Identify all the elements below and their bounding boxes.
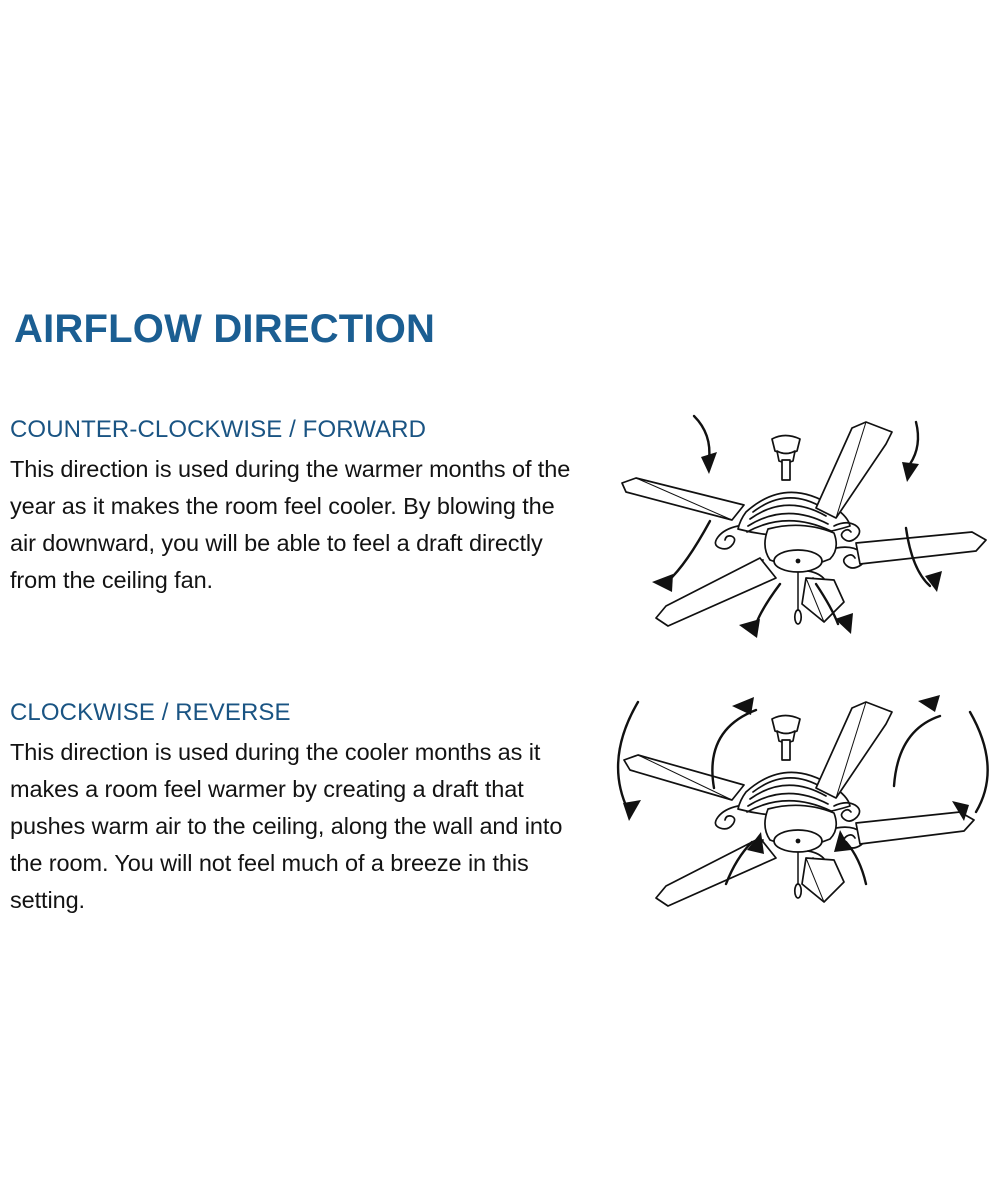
section-body-clockwise-reverse: This direction is used during the cooler…	[10, 734, 582, 919]
section-heading-counter-clockwise-forward: COUNTER-CLOCKWISE / FORWARD	[10, 415, 580, 445]
section-heading-clockwise-reverse: CLOCKWISE / REVERSE	[10, 698, 580, 728]
page-canvas: AIRFLOW DIRECTION COUNTER-CLOCKWISE / FO…	[0, 0, 1000, 1200]
section-clockwise-reverse: CLOCKWISE / REVERSE This direction is us…	[10, 698, 580, 919]
page-title: AIRFLOW DIRECTION	[14, 306, 435, 352]
ceiling-fan-reverse-airflow-diagram	[598, 688, 996, 920]
section-body-counter-clockwise-forward: This direction is used during the warmer…	[10, 451, 580, 599]
section-counter-clockwise-forward: COUNTER-CLOCKWISE / FORWARD This directi…	[10, 415, 580, 599]
ceiling-fan-forward-airflow-diagram	[620, 408, 992, 648]
